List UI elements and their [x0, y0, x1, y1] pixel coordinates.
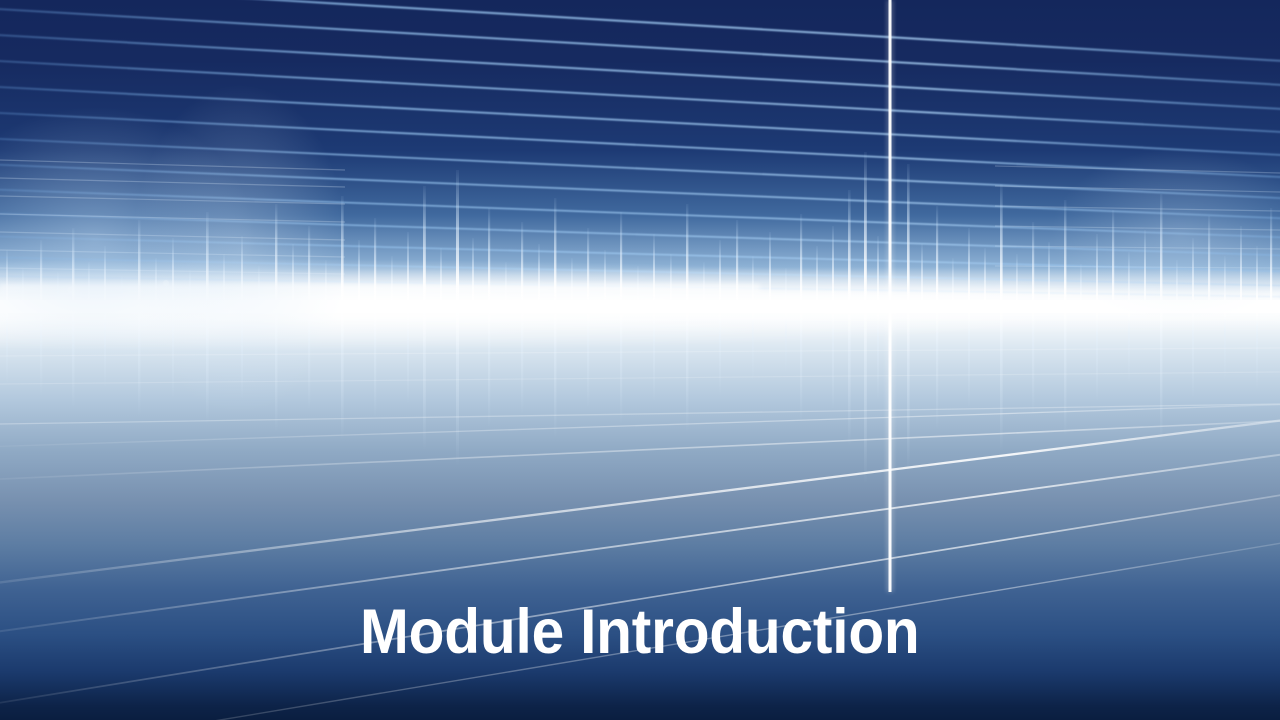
presentation-slide: Module Introduction: [0, 0, 1280, 720]
horizon-glow-band: [0, 284, 1280, 320]
waveform-bar-reflections: [6, 312, 1258, 484]
title-block: Module Introduction: [0, 601, 1280, 664]
floor-near-horizon-rules: [0, 348, 1280, 424]
floor-perspective-streaks: [0, 404, 1280, 720]
page-title: Module Introduction: [360, 601, 919, 664]
sky-perspective-rules: [0, 0, 1280, 297]
